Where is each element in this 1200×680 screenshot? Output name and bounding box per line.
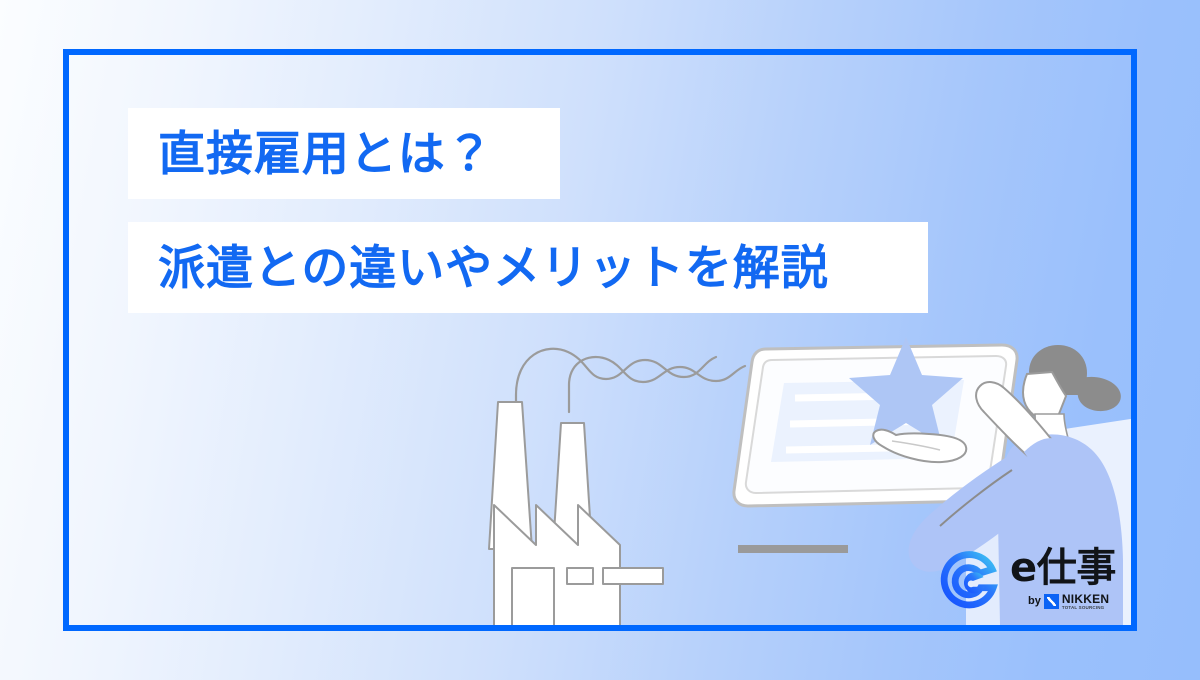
- nikken-brand-name: NIKKEN: [1062, 593, 1109, 605]
- logo-wordmark: e仕事: [1010, 548, 1116, 588]
- page-title-line-1: 直接雇用とは？: [128, 108, 560, 199]
- nikken-badge-icon: [1044, 594, 1059, 609]
- logo-text-block: e仕事 by NIKKEN TOTAL SOURCING: [1010, 548, 1116, 611]
- divider-bar: [738, 545, 848, 553]
- banner-root: 直接雇用とは？ 派遣との違いやメリットを解説 e仕事 by NIKKEN: [0, 0, 1200, 680]
- nikken-text-block: NIKKEN TOTAL SOURCING: [1062, 593, 1109, 611]
- logo-parent-brand-row: by NIKKEN TOTAL SOURCING: [1028, 593, 1109, 611]
- logo-by-label: by: [1028, 596, 1041, 607]
- brand-logo[interactable]: e仕事 by NIKKEN TOTAL SOURCING: [938, 544, 1124, 614]
- title-gap: [128, 199, 928, 222]
- title-stack: 直接雇用とは？ 派遣との違いやメリットを解説: [128, 108, 928, 313]
- smoke-line-icon: [516, 349, 745, 455]
- page-title-line-2: 派遣との違いやメリットを解説: [128, 222, 928, 313]
- e-circle-logo-icon: [938, 548, 1000, 610]
- nikken-tagline: TOTAL SOURCING: [1062, 606, 1109, 611]
- factory-icon: [489, 402, 663, 630]
